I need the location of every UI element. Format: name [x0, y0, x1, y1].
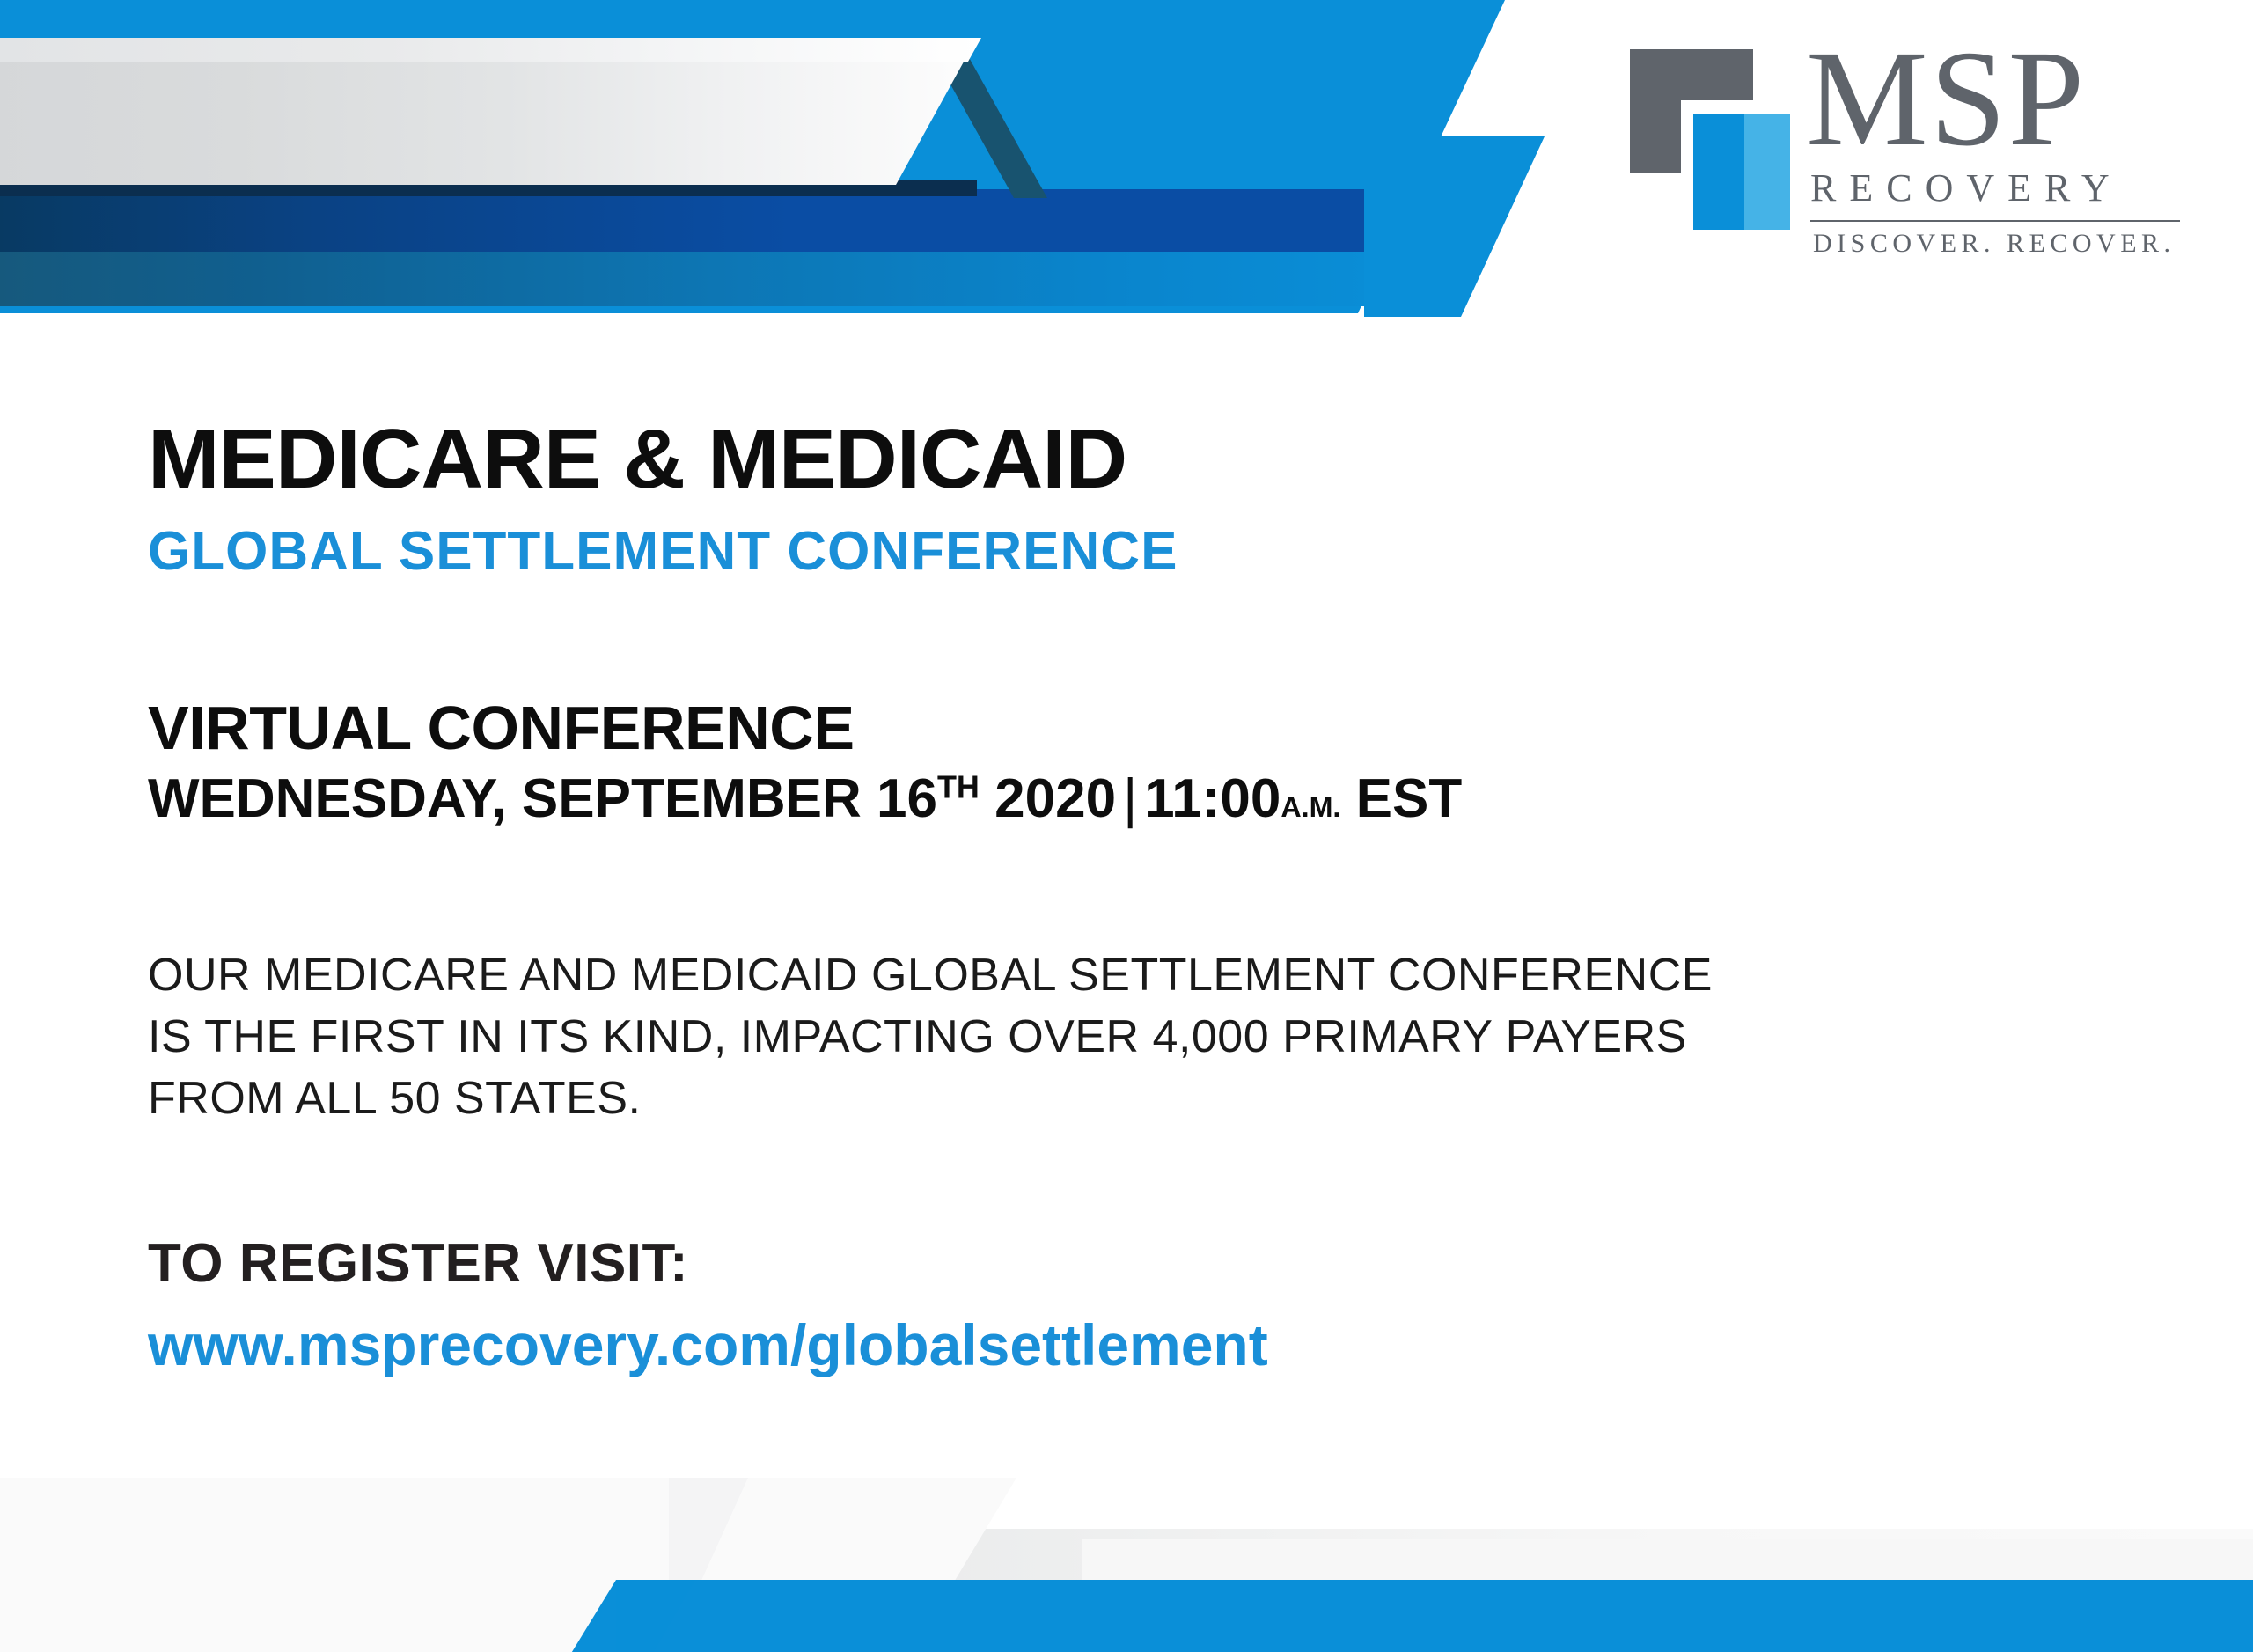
header-silver-sheet-highlight	[0, 38, 981, 62]
event-date-day: WEDNESDAY, SEPTEMBER 16	[148, 768, 937, 829]
description-line-3: FROM ALL 50 STATES.	[148, 1068, 2172, 1129]
msp-recovery-logo: MSP RECOVERY DISCOVER. RECOVER.	[1630, 33, 2193, 218]
footer-decoration-banner	[0, 1458, 2253, 1652]
logo-dark-blue-overlap-icon	[1693, 114, 1744, 230]
page-subtitle: GLOBAL SETTLEMENT CONFERENCE	[148, 521, 2172, 583]
logo-wordmark: MSP	[1806, 30, 2086, 167]
header-navy-gradient-band	[0, 189, 792, 254]
header-cyan-right-wedge	[1364, 136, 1628, 317]
flyer-content: MEDICARE & MEDICAID GLOBAL SETTLEMENT CO…	[148, 414, 2172, 1379]
description-line-2: IS THE FIRST IN ITS KIND, IMPACTING OVER…	[148, 1006, 2172, 1068]
event-timezone: EST	[1356, 768, 1463, 829]
logo-tagline: DISCOVER. RECOVER.	[1813, 229, 2176, 259]
event-time: 11:00	[1144, 768, 1281, 829]
event-meridiem: A.M.	[1281, 791, 1340, 823]
page-title: MEDICARE & MEDICAID	[148, 414, 2213, 505]
event-datetime-line: WEDNESDAY, SEPTEMBER 16TH 2020|11:00A.M.…	[148, 767, 2172, 839]
register-label: TO REGISTER VISIT:	[148, 1233, 2172, 1295]
event-description: OUR MEDICARE AND MEDICAID GLOBAL SETTLEM…	[148, 944, 2172, 1129]
register-url-link[interactable]: www.msprecovery.com/globalsettlement	[148, 1311, 2172, 1379]
header-teal-band	[0, 252, 1430, 306]
description-line-1: OUR MEDICARE AND MEDICAID GLOBAL SETTLEM…	[148, 944, 2172, 1006]
event-format-heading: VIRTUAL CONFERENCE	[148, 694, 2172, 762]
logo-divider-rule	[1810, 220, 2180, 222]
event-separator: |	[1116, 768, 1144, 829]
event-date-year: 2020	[994, 768, 1116, 829]
event-date-ordinal: TH	[937, 768, 980, 804]
logo-subword: RECOVERY	[1810, 165, 2123, 210]
